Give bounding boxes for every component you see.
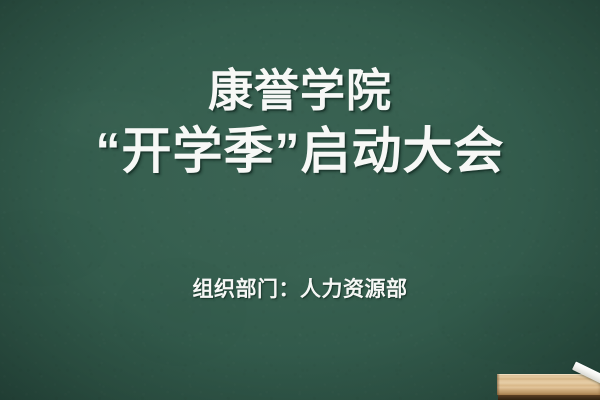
slide-title-line-1: 康誉学院: [0, 62, 600, 120]
slide-title: 康誉学院 “开学季”启动大会: [0, 62, 600, 182]
slide-text-layer: 康誉学院 “开学季”启动大会 组织部门：人力资源部: [0, 0, 600, 400]
slide-subtitle: 组织部门：人力资源部: [0, 273, 600, 303]
chalk-tray-wood-face: [497, 374, 600, 395]
slide-title-line-2: “开学季”启动大会: [0, 120, 600, 182]
chalk-tray-shadow: [498, 395, 600, 400]
presentation-slide: 康誉学院 “开学季”启动大会 组织部门：人力资源部: [0, 0, 600, 400]
chalk-tray: [497, 374, 600, 400]
chalk-tray-left-edge: [497, 374, 500, 395]
